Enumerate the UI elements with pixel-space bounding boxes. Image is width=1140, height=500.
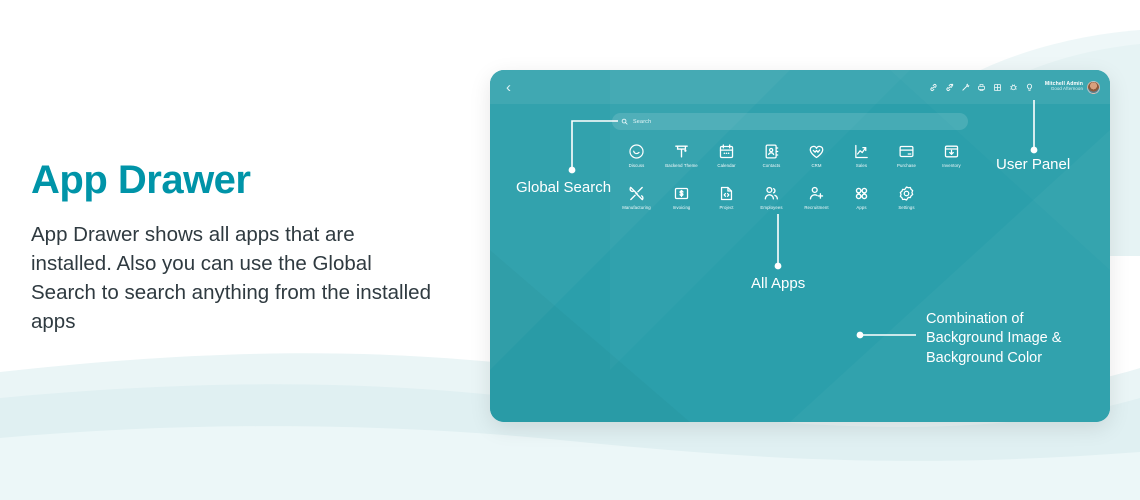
search-icon: [621, 118, 628, 125]
app-item-settings[interactable]: Settings: [884, 185, 929, 227]
left-text-block: App Drawer App Drawer shows all apps tha…: [31, 160, 431, 336]
annotation-all-apps: All Apps: [751, 274, 805, 294]
bulb-icon[interactable]: [1025, 83, 1034, 92]
app-item-discuss[interactable]: Discuss: [614, 143, 659, 185]
app-item-recruitment[interactable]: Recruitment: [794, 185, 839, 227]
app-label: Calendar: [717, 163, 735, 168]
search-input[interactable]: Search: [612, 113, 968, 130]
mockup-topbar: ‹: [490, 70, 1110, 104]
print-icon[interactable]: [977, 83, 986, 92]
avatar[interactable]: [1087, 81, 1100, 94]
bug-icon[interactable]: [1009, 83, 1018, 92]
app-item-invoicing[interactable]: Invoicing: [659, 185, 704, 227]
app-label: Backend Theme: [665, 163, 698, 168]
inventory-box-icon: [943, 143, 960, 160]
apps-dots-icon: [853, 185, 870, 202]
app-item-inventory[interactable]: Inventory: [929, 143, 974, 185]
manufacturing-tools-icon: [628, 185, 645, 202]
app-item-purchase[interactable]: Purchase: [884, 143, 929, 185]
annotation-global-search: Global Search: [516, 178, 611, 198]
app-item-backend-theme[interactable]: Backend Theme: [659, 143, 704, 185]
discuss-icon: [628, 143, 645, 160]
invoicing-dollar-icon: [673, 185, 690, 202]
calendar-icon: [718, 143, 735, 160]
app-label: Purchase: [897, 163, 916, 168]
purchase-card-icon: [898, 143, 915, 160]
grid-icon[interactable]: [993, 83, 1002, 92]
search-placeholder: Search: [633, 119, 651, 125]
app-label: CRM: [811, 163, 821, 168]
contacts-icon: [763, 143, 780, 160]
user-panel[interactable]: Mitchell Admin Good Afternoon: [1045, 81, 1100, 94]
app-label: Project: [719, 205, 733, 210]
user-greeting: Good Afternoon: [1051, 87, 1083, 92]
app-drawer-mockup: ‹: [490, 70, 1110, 422]
app-label: Recruitment: [804, 205, 828, 210]
crm-heart-icon: [808, 143, 825, 160]
page-description: App Drawer shows all apps that are insta…: [31, 220, 431, 336]
settings-gear-icon: [898, 185, 915, 202]
app-item-employees[interactable]: Employees: [749, 185, 794, 227]
app-label: Manufacturing: [622, 205, 651, 210]
annotation-background: Combination of Background Image & Backgr…: [926, 310, 1061, 368]
page-title: App Drawer: [31, 160, 431, 200]
app-item-calendar[interactable]: Calendar: [704, 143, 749, 185]
app-label: Discuss: [629, 163, 645, 168]
app-label: Invoicing: [673, 205, 691, 210]
app-label: Employees: [760, 205, 782, 210]
app-item-manufacturing[interactable]: Manufacturing: [614, 185, 659, 227]
topbar-icon-group: Mitchell Admin Good Afternoon: [929, 81, 1100, 94]
app-item-project[interactable]: Project: [704, 185, 749, 227]
app-item-crm[interactable]: CRM: [794, 143, 839, 185]
app-label: Inventory: [942, 163, 961, 168]
app-grid: Discuss Backend Theme Calendar Contacts: [614, 143, 964, 227]
app-item-contacts[interactable]: Contacts: [749, 143, 794, 185]
sales-chart-icon: [853, 143, 870, 160]
chevron-left-icon[interactable]: ‹: [506, 80, 511, 95]
app-label: Sales: [856, 163, 867, 168]
app-label: Apps: [856, 205, 866, 210]
recruitment-user-plus-icon: [808, 185, 825, 202]
app-item-sales[interactable]: Sales: [839, 143, 884, 185]
annotation-user-panel: User Panel: [996, 155, 1070, 175]
app-item-apps[interactable]: Apps: [839, 185, 884, 227]
backend-theme-icon: [673, 143, 690, 160]
project-code-icon: [718, 185, 735, 202]
user-name-block: Mitchell Admin Good Afternoon: [1045, 82, 1083, 93]
link-badge-icon[interactable]: [945, 83, 954, 92]
employees-icon: [763, 185, 780, 202]
link-icon[interactable]: [929, 83, 938, 92]
app-label: Settings: [898, 205, 914, 210]
app-label: Contacts: [763, 163, 781, 168]
wand-icon[interactable]: [961, 83, 970, 92]
